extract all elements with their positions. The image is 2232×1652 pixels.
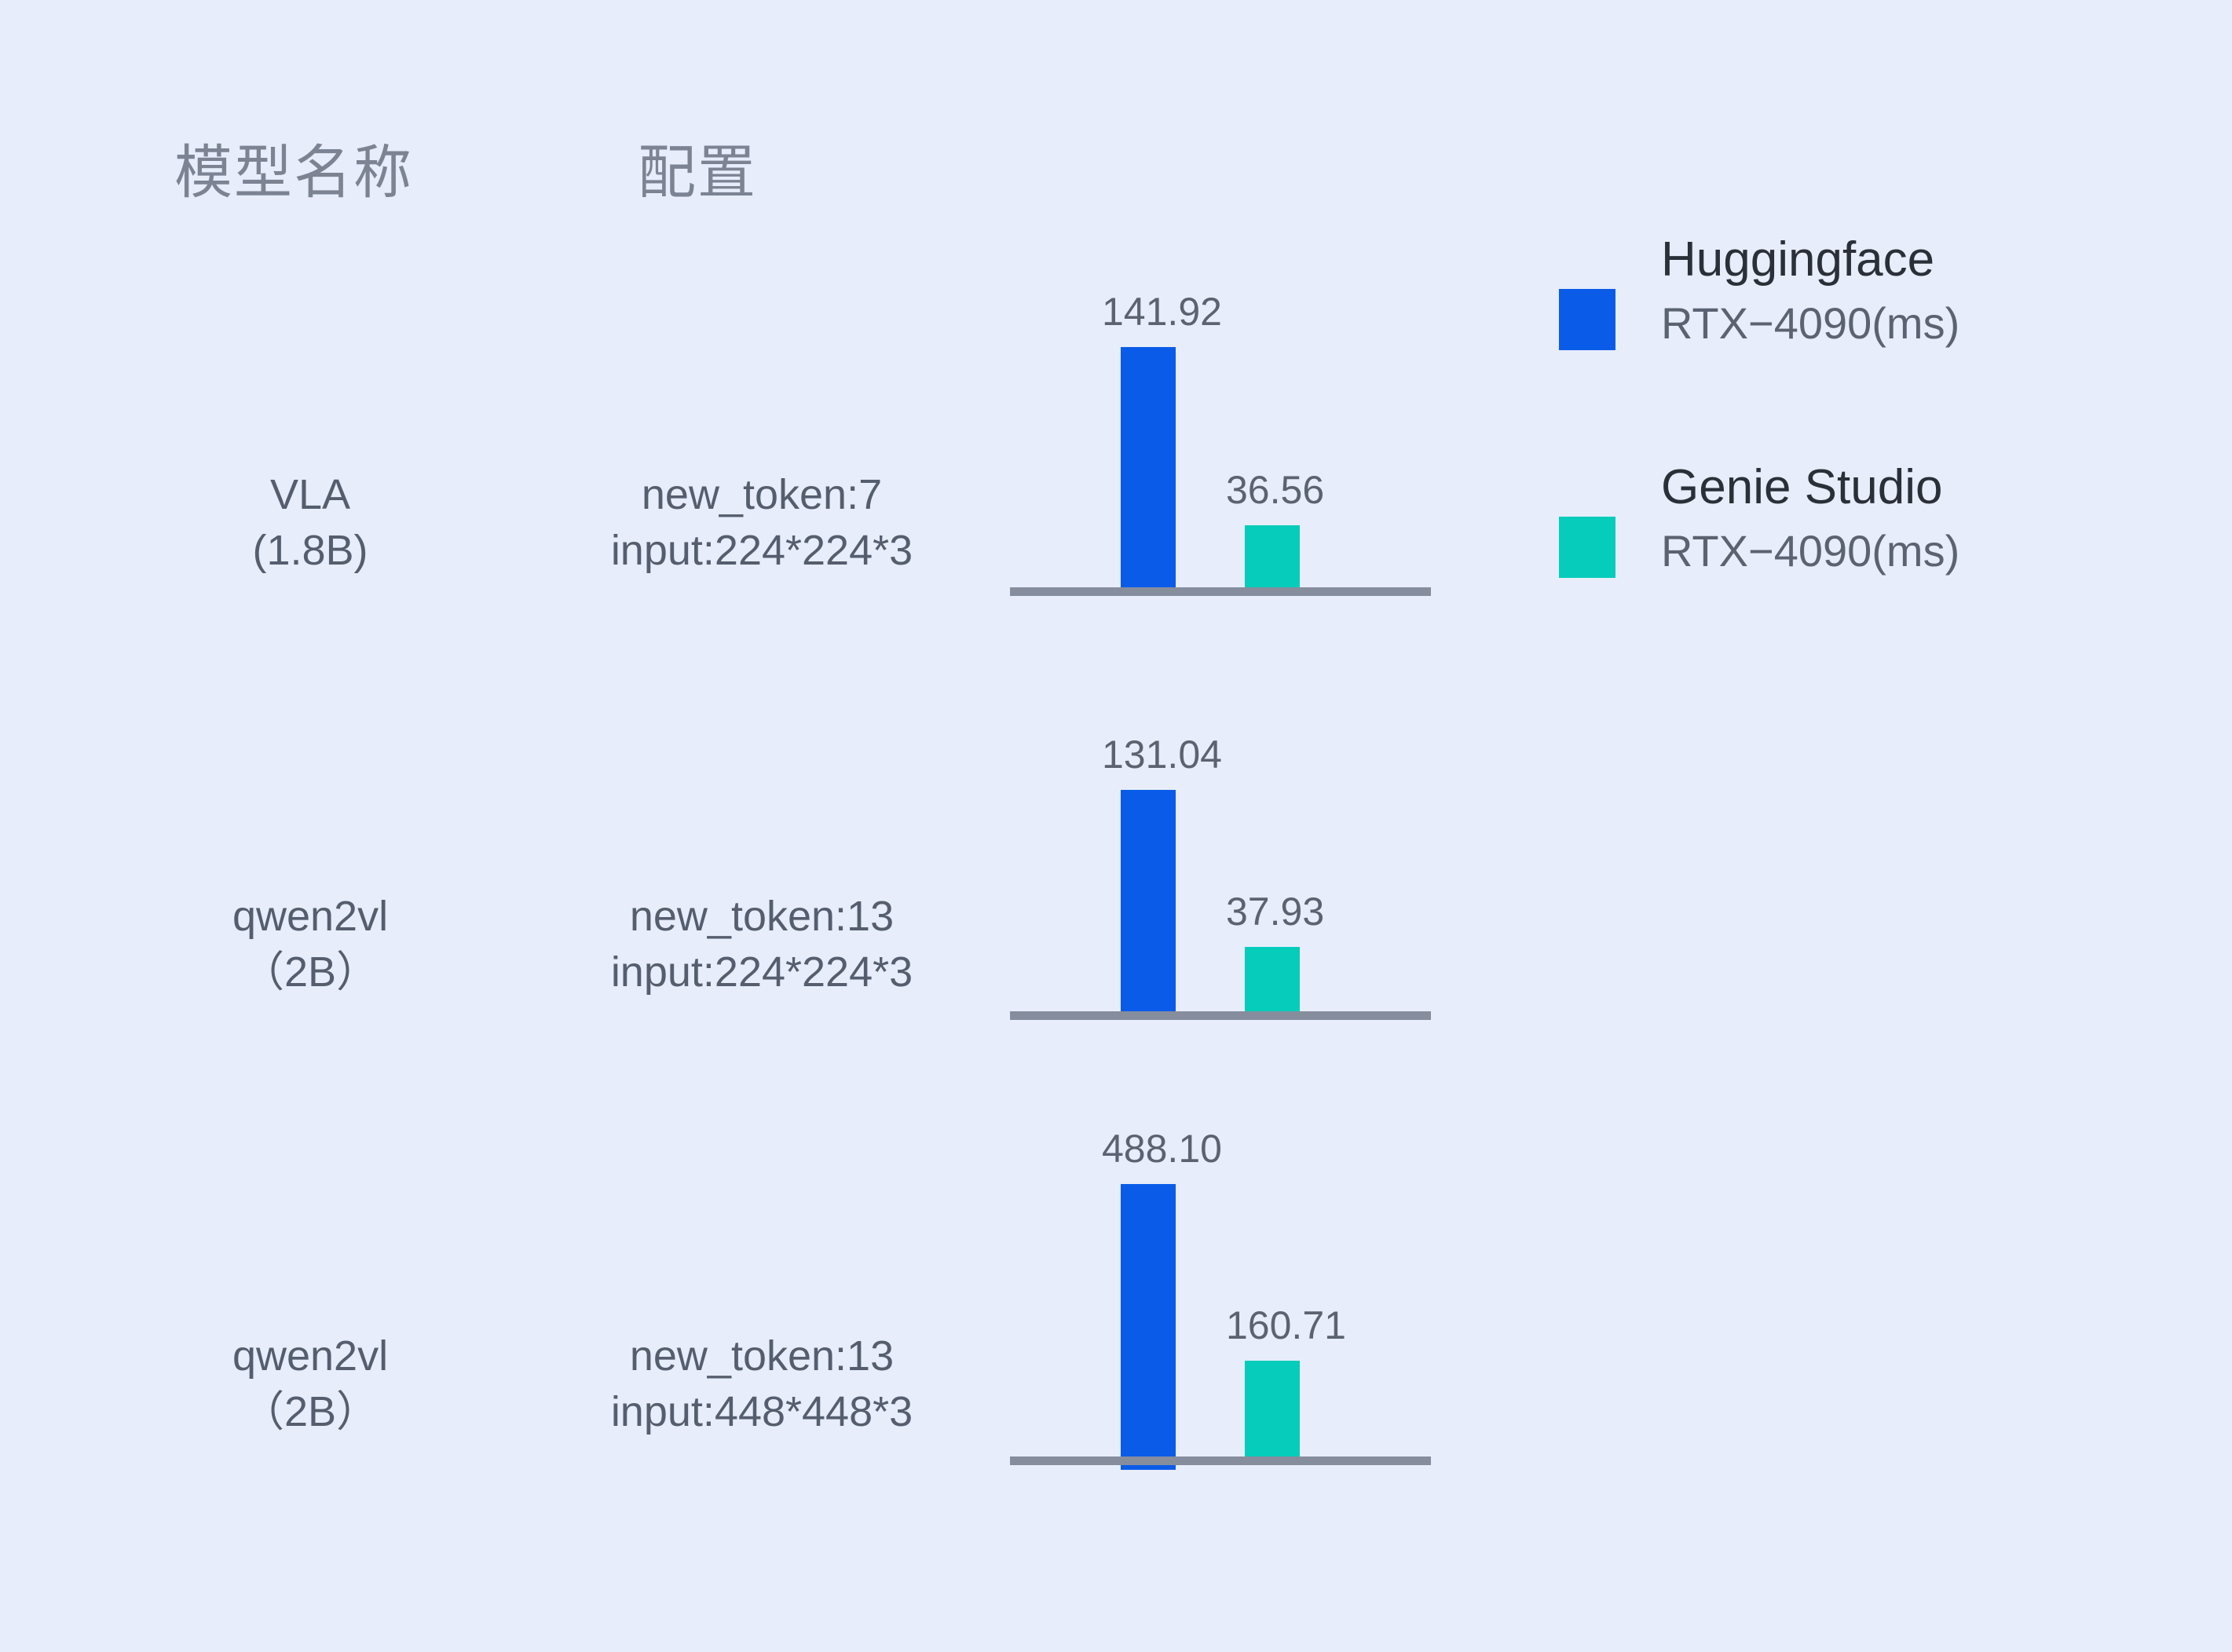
panel-baseline [1010, 1456, 1431, 1465]
bar-huggingface [1121, 1184, 1176, 1470]
bar-value-label-huggingface: 131.04 [1102, 732, 1222, 777]
row-model-name-line1: VLA [145, 467, 475, 523]
column-header-model-name: 模型名称 [174, 126, 413, 210]
row-model-name: VLA (1.8B) [145, 467, 475, 579]
legend-swatch-icon [1559, 517, 1615, 578]
legend-entry-title: Huggingface [1661, 236, 1959, 284]
row-model-name-line2: (1.8B) [145, 523, 475, 579]
row-model-name-line2: （2B） [145, 1384, 475, 1440]
bar-huggingface [1121, 790, 1176, 1011]
legend-entry-subtitle: RTX−4090(ms) [1661, 302, 1959, 345]
panel-baseline [1010, 1011, 1431, 1020]
chart-legend: Huggingface RTX−4090(ms) Genie Studio RT… [1559, 236, 2109, 691]
row-config: new_token:13 input:448*448*3 [518, 1329, 1005, 1441]
row-model-name: qwen2vl （2B） [145, 1329, 475, 1441]
row-model-name-line1: qwen2vl [145, 889, 475, 945]
legend-entry-title: Genie Studio [1661, 463, 1959, 512]
bar-value-label-genie-studio: 160.71 [1226, 1303, 1346, 1348]
bar-value-label-genie-studio: 37.93 [1226, 889, 1324, 934]
row-config-line2: input:224*224*3 [518, 523, 1005, 579]
column-header-config: 配置 [638, 126, 757, 210]
panel-baseline [1010, 587, 1431, 596]
row-config: new_token:13 input:224*224*3 [518, 889, 1005, 1001]
bar-value-label-huggingface: 488.10 [1102, 1126, 1222, 1171]
bar-panel: 141.92 36.56 [1010, 157, 1434, 597]
bar-genie-studio [1245, 947, 1300, 1011]
bar-panel: 488.10 160.71 [1010, 1036, 1434, 1492]
row-model-name: qwen2vl （2B） [145, 889, 475, 1001]
bar-huggingface [1121, 347, 1176, 587]
row-config: new_token:7 input:224*224*3 [518, 467, 1005, 579]
row-config-line1: new_token:13 [518, 889, 1005, 945]
legend-entry-huggingface[interactable]: Huggingface RTX−4090(ms) [1559, 236, 2109, 463]
row-config-line2: input:224*224*3 [518, 945, 1005, 1000]
bar-panel: 131.04 37.93 [1010, 581, 1434, 1021]
row-model-name-line1: qwen2vl [145, 1329, 475, 1384]
legend-entry-subtitle: RTX−4090(ms) [1661, 529, 1959, 573]
legend-entry-genie-studio[interactable]: Genie Studio RTX−4090(ms) [1559, 463, 2109, 691]
legend-entry-text: Huggingface RTX−4090(ms) [1661, 236, 1959, 345]
row-config-line2: input:448*448*3 [518, 1384, 1005, 1440]
bar-value-label-huggingface: 141.92 [1102, 289, 1222, 334]
row-model-name-line2: （2B） [145, 945, 475, 1000]
bar-value-label-genie-studio: 36.56 [1226, 467, 1324, 513]
bar-genie-studio [1245, 1361, 1300, 1456]
row-config-line1: new_token:13 [518, 1329, 1005, 1384]
row-config-line1: new_token:7 [518, 467, 1005, 523]
legend-swatch-icon [1559, 289, 1615, 350]
legend-entry-text: Genie Studio RTX−4090(ms) [1661, 463, 1959, 573]
bar-genie-studio [1245, 525, 1300, 587]
benchmark-comparison-figure: 模型名称 配置 VLA (1.8B) new_token:7 input:224… [0, 0, 2232, 1652]
